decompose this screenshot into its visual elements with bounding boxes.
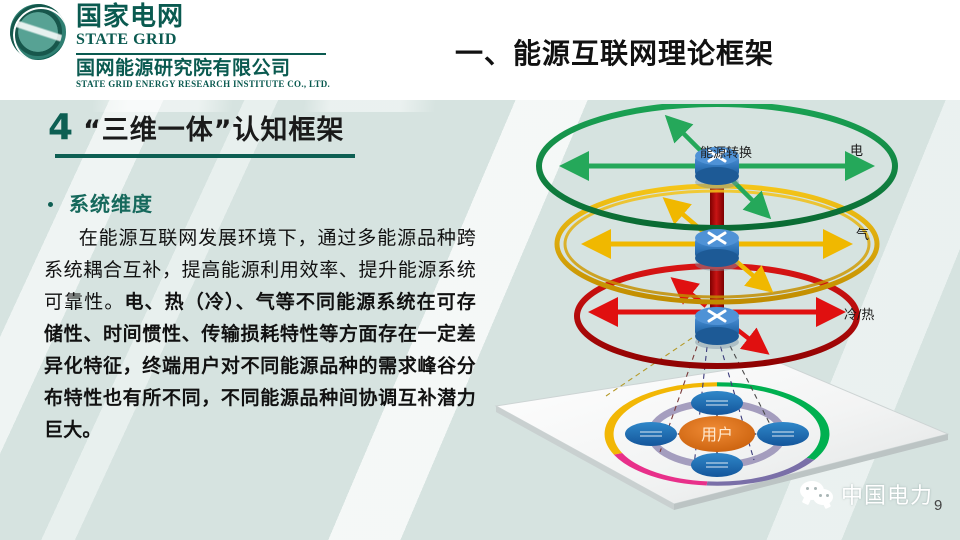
gas-router-node <box>695 229 739 271</box>
logo-en-sub: STATE GRID ENERGY RESEARCH INSTITUTE CO.… <box>76 79 330 90</box>
section-heading-underline <box>55 154 355 158</box>
section-heading: 4 “三维一体”认知框架 <box>48 108 345 147</box>
page-title: 一、能源互联网理论框架 <box>455 32 774 72</box>
section-title: “三维一体”认知框架 <box>83 108 345 147</box>
bullet-heading-label: 系统维度 <box>69 188 153 217</box>
bullet-heading: 系统维度 <box>48 188 153 217</box>
slide-header: 国家电网 STATE GRID 国网能源研究院有限公司 STATE GRID E… <box>0 0 960 100</box>
state-grid-emblem-icon <box>10 4 66 60</box>
label-gas: 气 <box>856 224 869 243</box>
wechat-icon <box>800 481 834 507</box>
user-core-label: 用户 <box>701 425 733 444</box>
label-electricity: 电 <box>850 140 863 159</box>
content-left-column: 4 “三维一体”认知框架 系统维度 在能源互联网发展环境下，通过多能源品种跨系统… <box>0 100 500 540</box>
section-number: 4 <box>48 110 73 146</box>
label-energy-conversion: 能源转换 <box>700 142 752 161</box>
logo-cn-sub: 国网能源研究院有限公司 <box>76 58 330 79</box>
page-number: 9 <box>934 497 942 514</box>
paragraph-bold-text: 电、热（冷）、气等不同能源系统在可存储性、时间惯性、传输损耗特性等方面存在一定差… <box>44 291 476 441</box>
heat-cold-router-node <box>695 307 739 349</box>
user-core: 用户 <box>679 416 755 452</box>
label-heat-cold: 冷/热 <box>844 304 874 323</box>
wechat-account-name: 中国电力 <box>841 478 933 510</box>
three-dimension-energy-internet-diagram: 用户 <box>478 104 960 540</box>
logo-cn-main: 国家电网 <box>76 3 330 31</box>
slide-canvas: 国家电网 STATE GRID 国网能源研究院有限公司 STATE GRID E… <box>0 0 960 540</box>
body-paragraph: 在能源互联网发展环境下，通过多能源品种跨系统耦合互补，提高能源利用效率、提升能源… <box>44 222 476 446</box>
logo-text-block: 国家电网 STATE GRID 国网能源研究院有限公司 STATE GRID E… <box>76 2 330 90</box>
bullet-dot-icon <box>48 202 53 207</box>
state-grid-logo: 国家电网 STATE GRID 国网能源研究院有限公司 STATE GRID E… <box>6 2 330 90</box>
logo-en-main: STATE GRID <box>76 31 330 49</box>
wechat-watermark: 中国电力 <box>800 478 933 510</box>
logo-divider <box>76 53 326 55</box>
